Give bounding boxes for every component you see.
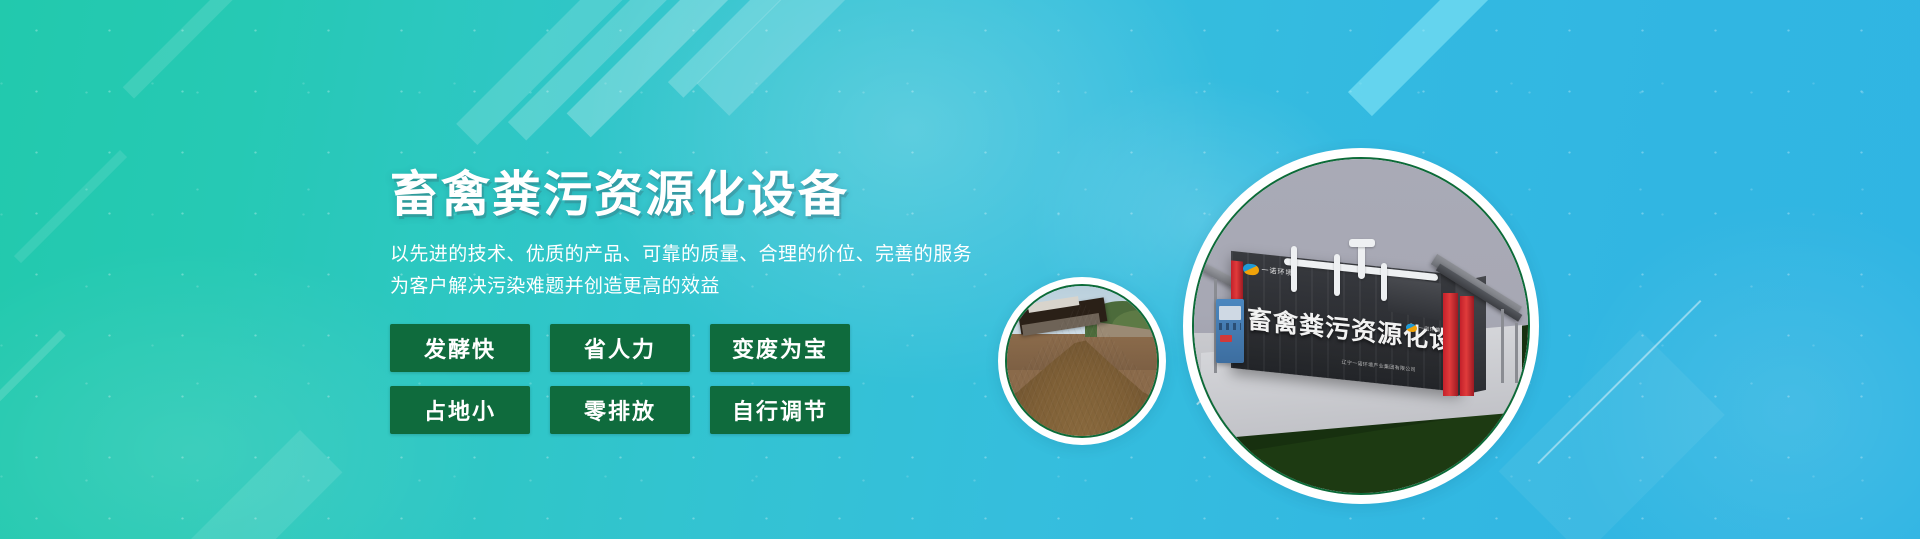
brand-logo-text-small: 一诺环境	[1418, 324, 1440, 333]
compost-photo-circle[interactable]	[998, 277, 1166, 445]
brand-logo-text: 一诺环境	[1261, 265, 1293, 278]
control-cabinet	[1216, 299, 1244, 362]
diagonal-streak-9	[0, 330, 66, 421]
company-logo-icon-small	[1405, 323, 1416, 332]
feature-tag-bianfeiweibao[interactable]: 变废为宝	[710, 324, 850, 372]
diagonal-streak-3	[456, 0, 661, 145]
support-leg-4	[1515, 323, 1518, 383]
cabinet-emergency-button	[1220, 335, 1232, 343]
promo-banner: 畜禽粪污资源化设备 以先进的技术、优质的产品、可靠的质量、合理的价位、完善的服务…	[0, 0, 1920, 539]
compost-scene	[1007, 286, 1157, 436]
product-render-circle[interactable]: 一诺环境 畜禽粪污资源化设备 辽宁一诺环境产业集团有限公司 一诺环境	[1183, 148, 1539, 504]
product-render: 一诺环境 畜禽粪污资源化设备 辽宁一诺环境产业集团有限公司 一诺环境	[1192, 157, 1530, 495]
feature-tag-lingpaifang[interactable]: 零排放	[550, 386, 690, 434]
feature-tag-fajiaokuai[interactable]: 发酵快	[390, 324, 530, 372]
page-title: 畜禽粪污资源化设备	[390, 170, 1030, 221]
diagonal-streak-8	[1348, 0, 1584, 116]
feature-tag-zhandixiao[interactable]: 占地小	[390, 386, 530, 434]
company-logo-icon	[1242, 262, 1258, 275]
exhaust-pipe-cap	[1349, 239, 1375, 247]
diagonal-streak-1	[123, 0, 262, 99]
subtitle-line-2: 为客户解决污染难题并创造更高的效益	[390, 271, 1030, 302]
background-glow-right	[1560, 200, 1920, 539]
feature-tag-row-1: 发酵快 省人力 变废为宝	[390, 324, 1030, 372]
exhaust-pipe-riser-2	[1334, 254, 1340, 296]
exhaust-pipe-riser-3	[1381, 263, 1387, 301]
feature-tag-shengrenli[interactable]: 省人力	[550, 324, 690, 372]
diagonal-streak-2	[14, 150, 127, 263]
exhaust-pipe-riser-1	[1291, 246, 1297, 292]
red-corner-post-right-2	[1460, 296, 1474, 396]
feature-tags: 发酵快 省人力 变废为宝 占地小 零排放 自行调节	[390, 324, 1030, 434]
product-scene: 一诺环境 畜禽粪污资源化设备 辽宁一诺环境产业集团有限公司 一诺环境	[1194, 159, 1528, 493]
banner-subtitle: 以先进的技术、优质的产品、可靠的质量、合理的价位、完善的服务 为客户解决污染难题…	[390, 239, 1030, 302]
diagonal-line-2	[1537, 300, 1701, 464]
compost-photo	[1005, 284, 1159, 438]
diagonal-streak-4	[508, 0, 739, 141]
banner-copy: 畜禽粪污资源化设备 以先进的技术、优质的产品、可靠的质量、合理的价位、完善的服务…	[390, 170, 1030, 448]
feature-tag-row-2: 占地小 零排放 自行调节	[390, 386, 1030, 434]
diagonal-streak-5	[567, 0, 824, 137]
diagonal-streak-7	[697, 0, 963, 116]
support-leg-3	[1501, 309, 1504, 382]
cabinet-display-panel	[1219, 306, 1241, 320]
feature-tag-zixingtiaojie[interactable]: 自行调节	[710, 386, 850, 434]
diagonal-panel-2	[173, 430, 343, 539]
red-corner-post-right-1	[1443, 293, 1458, 397]
subtitle-line-1: 以先进的技术、优质的产品、可靠的质量、合理的价位、完善的服务	[390, 239, 1030, 270]
diagonal-streak-6	[668, 0, 896, 98]
cabinet-indicator-lights	[1219, 323, 1241, 329]
equipment-container: 一诺环境 畜禽粪污资源化设备 辽宁一诺环境产业集团有限公司 一诺环境	[1231, 250, 1461, 391]
